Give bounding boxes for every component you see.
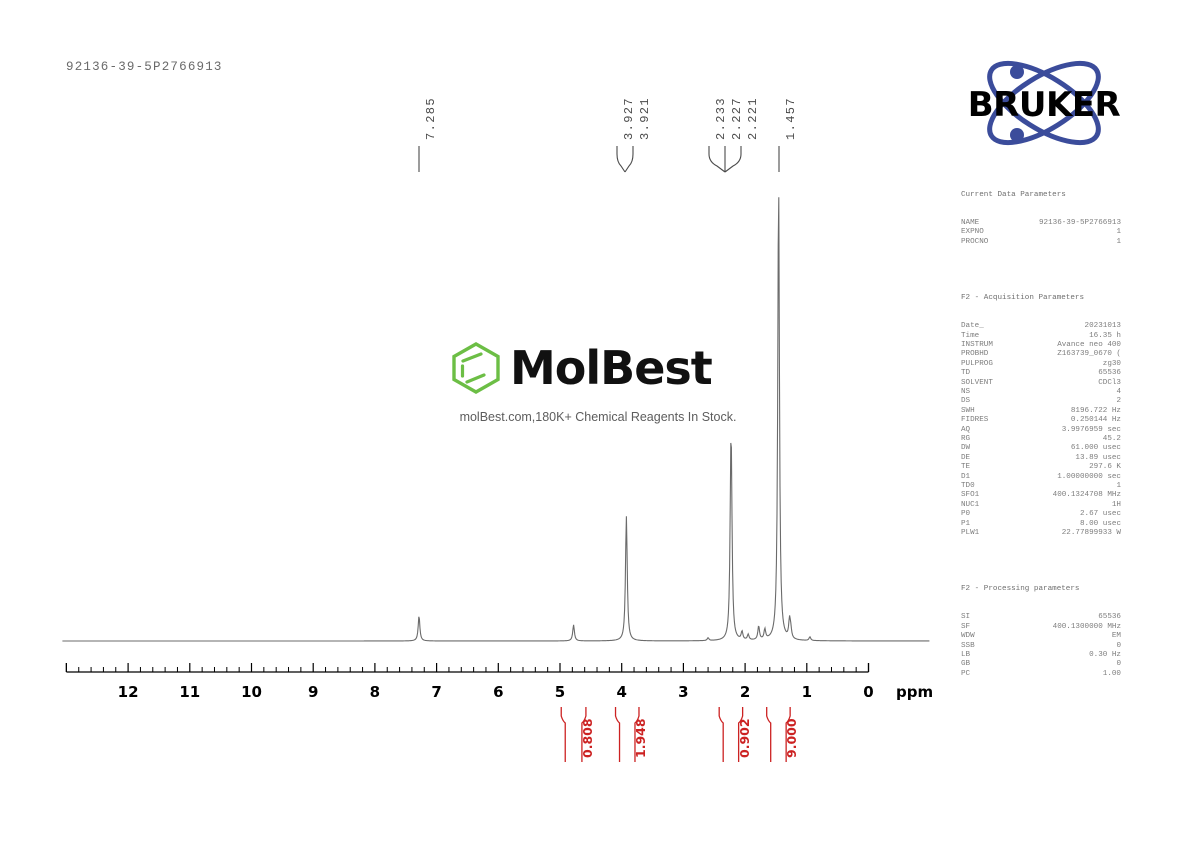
integral-value-label: 9.000: [784, 718, 799, 758]
integral-value-label: 0.902: [737, 718, 752, 758]
integral-value-label: 1.948: [633, 718, 648, 758]
integral-value-label: 0.808: [580, 718, 595, 758]
integral-value-labels: 0.8081.9480.9029.000: [0, 0, 1190, 842]
